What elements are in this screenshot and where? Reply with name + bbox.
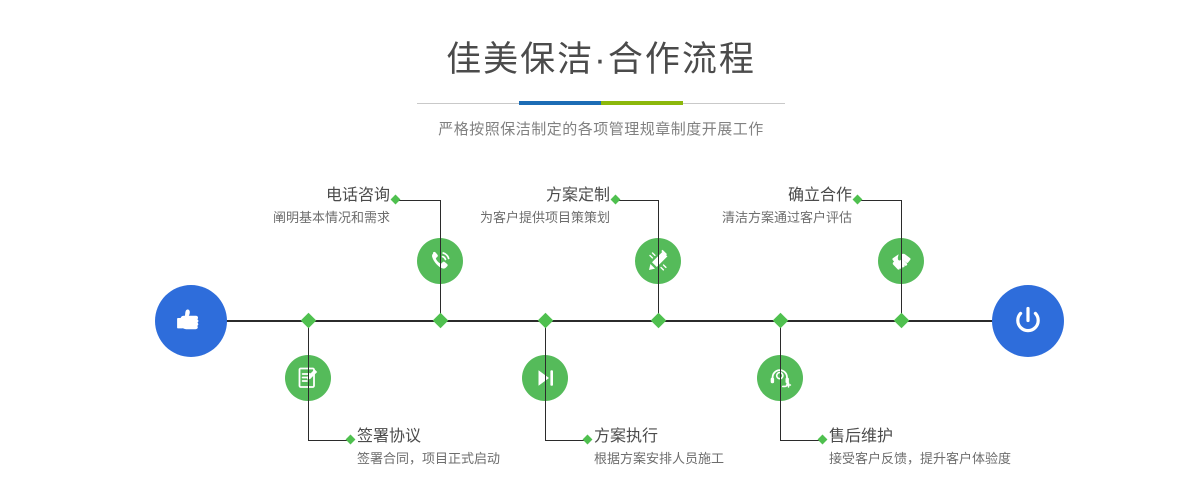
- connector-line-support-vertical: [780, 320, 781, 440]
- connector-line-agreement-horizontal: [308, 440, 350, 441]
- cooperation-flow-infographic: 佳美保洁·合作流程 严格按照保洁制定的各项管理规章制度开展工作: [0, 0, 1202, 502]
- timeline-end-node[interactable]: [992, 285, 1064, 357]
- step-title: 售后维护: [829, 427, 1189, 447]
- timeline-start-node[interactable]: [155, 285, 227, 357]
- pointing-hand-icon: [171, 301, 211, 341]
- connector-line-partnership-vertical: [901, 200, 902, 320]
- step-label-support: 售后维护 接受客户反馈，提升客户体验度: [829, 427, 1189, 468]
- axis-marker-support: [773, 313, 789, 329]
- power-icon: [1008, 301, 1048, 341]
- step-label-partnership: 确立合作 清洁方案通过客户评估: [520, 186, 852, 227]
- connector-tip-partnership: [853, 195, 863, 205]
- axis-marker-design: [651, 313, 667, 329]
- connector-line-execution-horizontal: [545, 440, 587, 441]
- step-title: 确立合作: [520, 186, 852, 206]
- axis-marker-partnership: [894, 313, 910, 329]
- step-desc: 清洁方案通过客户评估: [520, 208, 852, 227]
- connector-line-agreement-vertical: [308, 320, 309, 440]
- axis-marker-execution: [538, 313, 554, 329]
- axis-marker-phone: [433, 313, 449, 329]
- axis-marker-agreement: [301, 313, 317, 329]
- connector-line-partnership-horizontal: [858, 200, 901, 201]
- connector-line-support-horizontal: [780, 440, 822, 441]
- timeline: 电话咨询 阐明基本情况和需求 方案定制 为客户提供项目策策划: [0, 0, 1202, 502]
- connector-line-execution-vertical: [545, 320, 546, 440]
- connector-tip-agreement: [346, 435, 356, 445]
- step-desc: 接受客户反馈，提升客户体验度: [829, 449, 1189, 468]
